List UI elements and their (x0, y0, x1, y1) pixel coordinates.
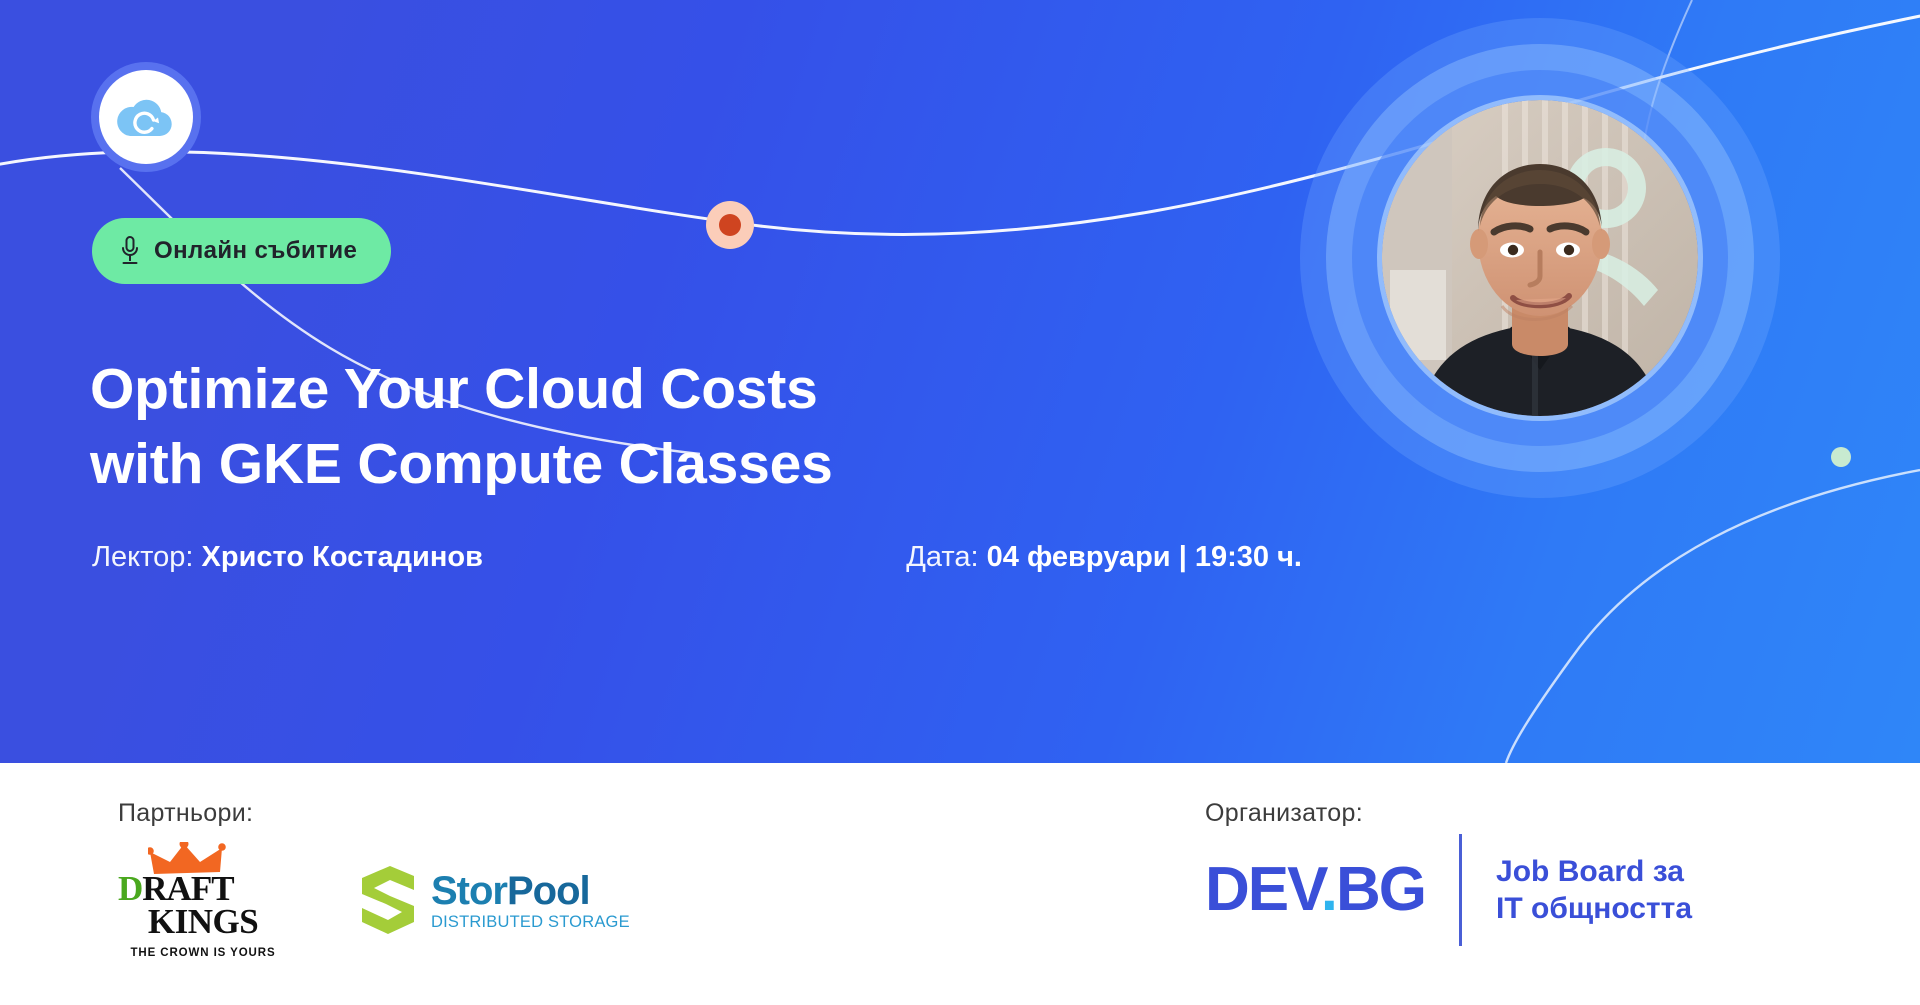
speaker-portrait (1382, 100, 1698, 416)
storpool-pool: Pool (507, 869, 590, 913)
devbg-dot: . (1321, 855, 1336, 924)
cloud-logo-badge (91, 62, 201, 172)
speaker-photo (1382, 100, 1698, 416)
date-value: 04 февруари | 19:30 ч. (987, 541, 1302, 573)
event-title: Optimize Your Cloud Costs with GKE Compu… (90, 352, 1090, 502)
cloud-sync-icon (115, 94, 177, 140)
storpool-wordmark: StorPool (431, 871, 630, 911)
speaker-label: Лектор: (92, 541, 193, 573)
hero-section: Онлайн събитие (0, 0, 1920, 763)
decorative-dot-mint (1831, 447, 1851, 467)
draftkings-d: D (118, 869, 142, 908)
organizer-block: Организатор: DEV.BG Job Board за IT общн… (1205, 799, 1692, 946)
event-title-line1: Optimize Your Cloud Costs (90, 357, 818, 421)
storpool-logo[interactable]: StorPool DISTRIBUTED STORAGE (356, 864, 630, 936)
devbg-dev: DEV (1205, 855, 1321, 924)
decorative-dot-core (719, 214, 741, 236)
event-meta: Лектор: Христо Костадинов Дата: 04 февру… (92, 541, 1302, 574)
storpool-tagline: DISTRIBUTED STORAGE (431, 914, 630, 931)
organizer-tagline-line1: Job Board за (1496, 855, 1684, 888)
decorative-dot-peach (706, 201, 754, 249)
devbg-logo[interactable]: DEV.BG (1205, 859, 1425, 921)
draftkings-logo[interactable]: DRAFT KINGS THE CROWN IS YOURS (118, 842, 288, 959)
organizer-tagline: Job Board за IT общността (1496, 853, 1692, 928)
event-banner: Онлайн събитие (0, 0, 1920, 1005)
partners-label: Партньори: (118, 799, 630, 828)
footer-section: Партньори: DRAFT KINGS THE CROWN IS YOUR… (0, 763, 1920, 1005)
microphone-icon (120, 236, 140, 266)
speaker-name: Христо Костадинов (202, 541, 483, 573)
draftkings-tagline: THE CROWN IS YOURS (118, 947, 288, 959)
draftkings-kings: KINGS (118, 905, 288, 938)
speaker-photo-wrap (1300, 18, 1780, 498)
date-info: Дата: 04 февруари | 19:30 ч. (906, 541, 1302, 574)
organizer-logo-row: DEV.BG Job Board за IT общността (1205, 834, 1692, 946)
draftkings-wordmark: DRAFT (118, 872, 288, 905)
event-title-line2: with GKE Compute Classes (90, 432, 833, 496)
devbg-bg: BG (1336, 855, 1425, 924)
organizer-tagline-line2: IT общността (1496, 892, 1692, 925)
storpool-mark-icon (356, 864, 418, 936)
speaker-info: Лектор: Христо Костадинов (92, 541, 483, 574)
date-label: Дата: (906, 541, 978, 573)
online-event-label: Онлайн събитие (154, 237, 357, 265)
storpool-stor: Stor (431, 869, 507, 913)
organizer-label: Организатор: (1205, 799, 1692, 828)
partners-block: Партньори: DRAFT KINGS THE CROWN IS YOUR… (118, 799, 630, 959)
storpool-text: StorPool DISTRIBUTED STORAGE (431, 871, 630, 931)
online-event-badge[interactable]: Онлайн събитие (92, 218, 391, 284)
organizer-divider (1459, 834, 1462, 946)
partner-logos: DRAFT KINGS THE CROWN IS YOURS StorPool … (118, 842, 630, 959)
